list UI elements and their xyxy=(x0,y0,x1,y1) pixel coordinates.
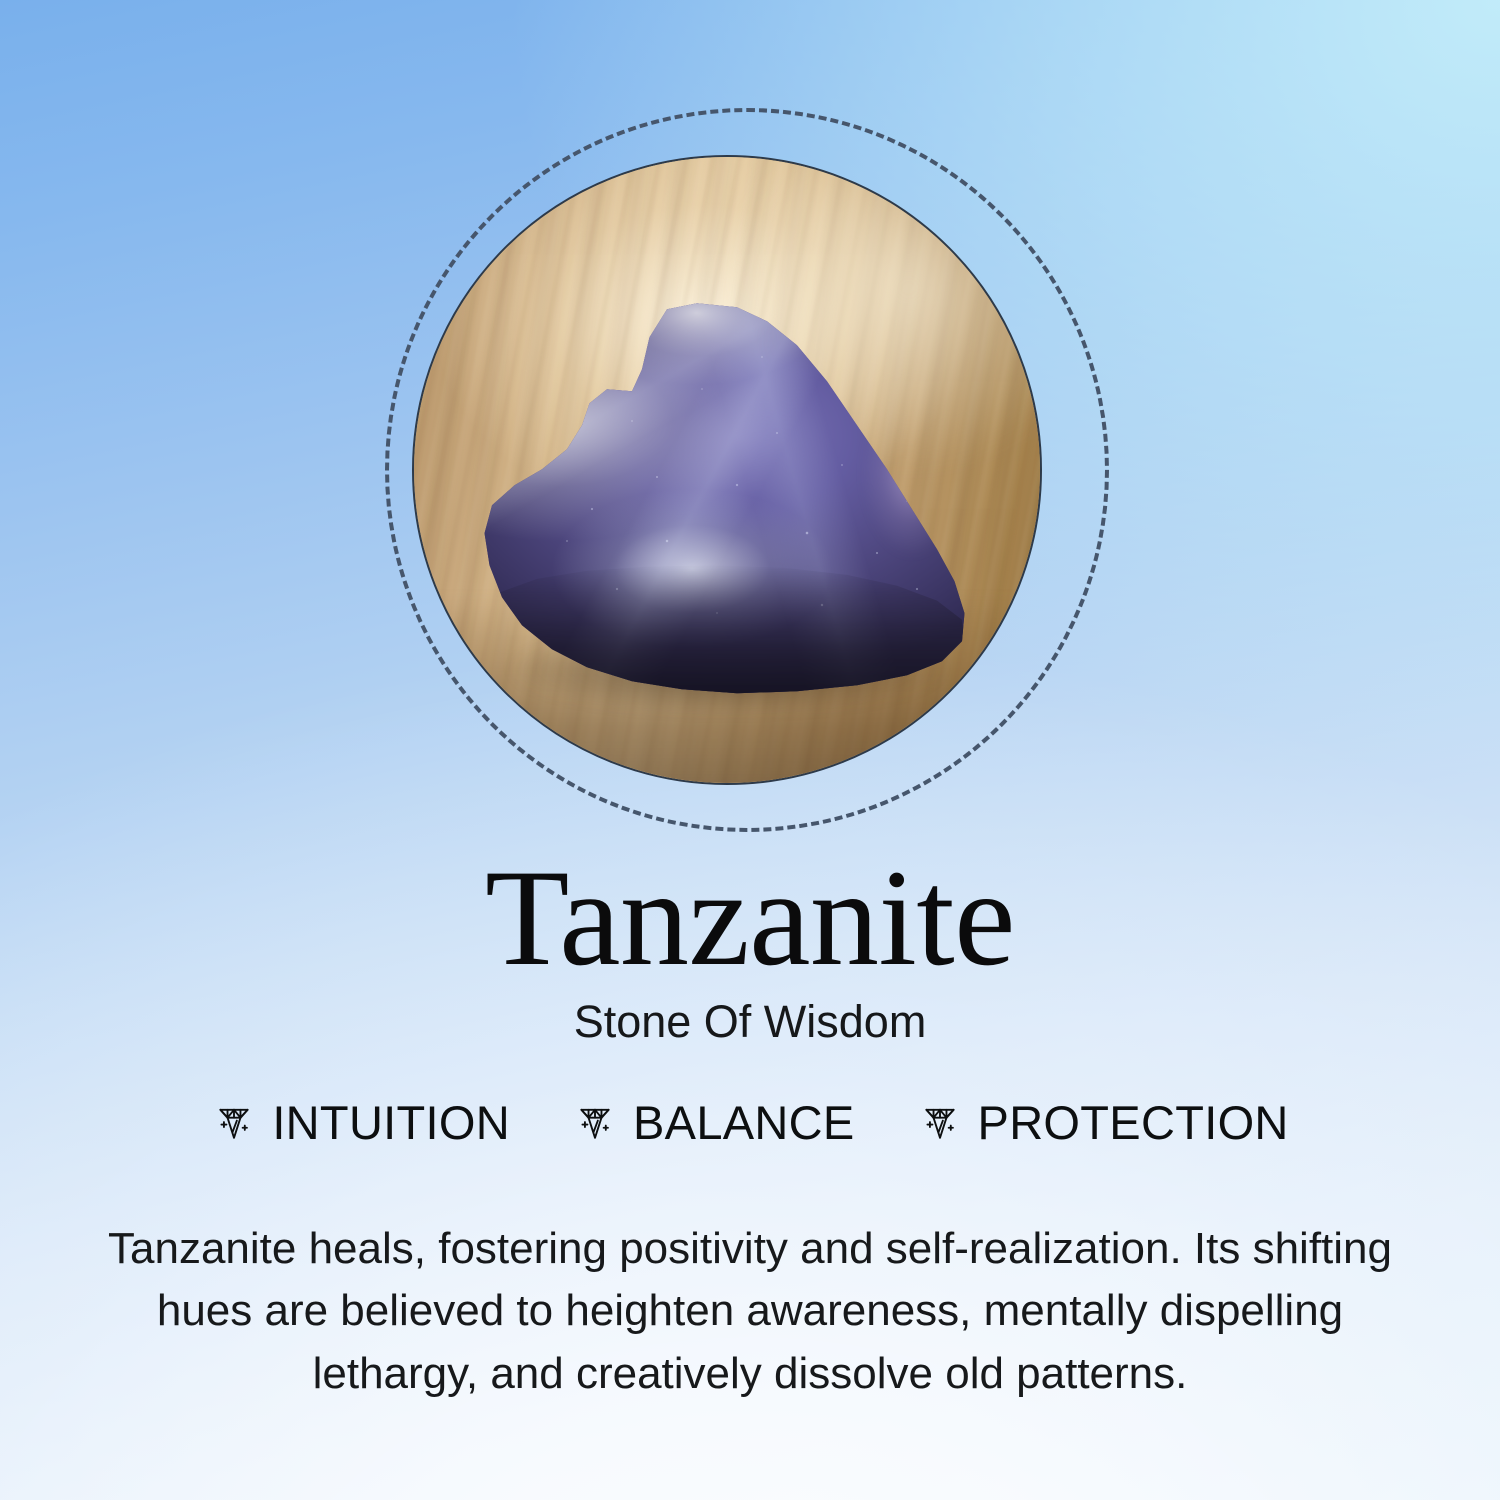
keyword-item-intuition: INTUITION xyxy=(211,1099,510,1146)
keyword-label: PROTECTION xyxy=(978,1099,1289,1146)
keyword-label: INTUITION xyxy=(272,1099,510,1146)
diamond-gem-icon xyxy=(211,1099,257,1145)
hero-image-area xyxy=(0,0,1500,860)
crystal-violet-highlight xyxy=(862,389,962,557)
gemstone-description: Tanzanite heals, fostering positivity an… xyxy=(85,1218,1415,1405)
gemstone-info-card: Tanzanite Stone Of Wisdom INTUITION xyxy=(0,0,1500,1500)
keyword-item-protection: PROTECTION xyxy=(917,1099,1289,1146)
keyword-list: INTUITION BALANCE xyxy=(0,1099,1500,1146)
gemstone-title: Tanzanite xyxy=(0,845,1500,991)
tanzanite-crystal xyxy=(477,301,977,701)
keyword-item-balance: BALANCE xyxy=(572,1099,855,1146)
gemstone-subtitle: Stone Of Wisdom xyxy=(0,997,1500,1047)
crystal-body xyxy=(477,301,977,701)
diamond-gem-icon xyxy=(572,1099,618,1145)
content-block: Tanzanite Stone Of Wisdom INTUITION xyxy=(0,845,1500,1405)
diamond-gem-icon xyxy=(917,1099,963,1145)
keyword-label: BALANCE xyxy=(633,1099,855,1146)
gemstone-photo xyxy=(412,155,1042,785)
photo-wood-background xyxy=(414,157,1040,783)
